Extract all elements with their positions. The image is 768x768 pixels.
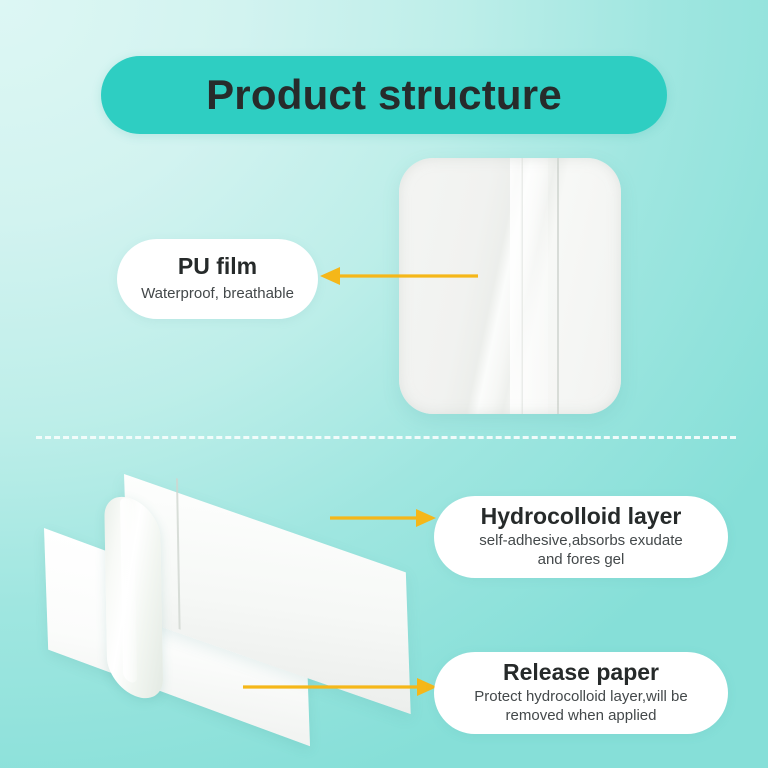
callout-release-paper-title: Release paper bbox=[503, 660, 659, 686]
callout-hydrocolloid-layer: Hydrocolloid layer self-adhesive,absorbs… bbox=[434, 496, 728, 578]
arrow-right-icon-release-paper bbox=[243, 677, 439, 702]
arrow-left-icon-pu-film bbox=[318, 266, 480, 291]
section-divider bbox=[36, 436, 736, 439]
callout-release-paper-subtitle: Protect hydrocolloid layer,will be remov… bbox=[474, 688, 687, 726]
infographic-canvas: Product structure PU film Waterproof, br… bbox=[0, 0, 768, 768]
page-title-banner: Product structure bbox=[101, 56, 667, 134]
page-title: Product structure bbox=[206, 74, 562, 116]
product-image-bottom-peeled-dressing bbox=[28, 470, 398, 700]
callout-pu-film-title: PU film bbox=[178, 254, 257, 280]
callout-hydrocolloid-subtitle: self-adhesive,absorbs exudate and fores … bbox=[479, 532, 682, 570]
callout-pu-film: PU film Waterproof, breathable bbox=[117, 239, 318, 319]
callout-hydrocolloid-title: Hydrocolloid layer bbox=[481, 504, 682, 530]
arrow-right-icon-hydrocolloid bbox=[330, 508, 438, 533]
callout-pu-film-subtitle: Waterproof, breathable bbox=[141, 285, 294, 304]
callout-release-paper: Release paper Protect hydrocolloid layer… bbox=[434, 652, 728, 734]
